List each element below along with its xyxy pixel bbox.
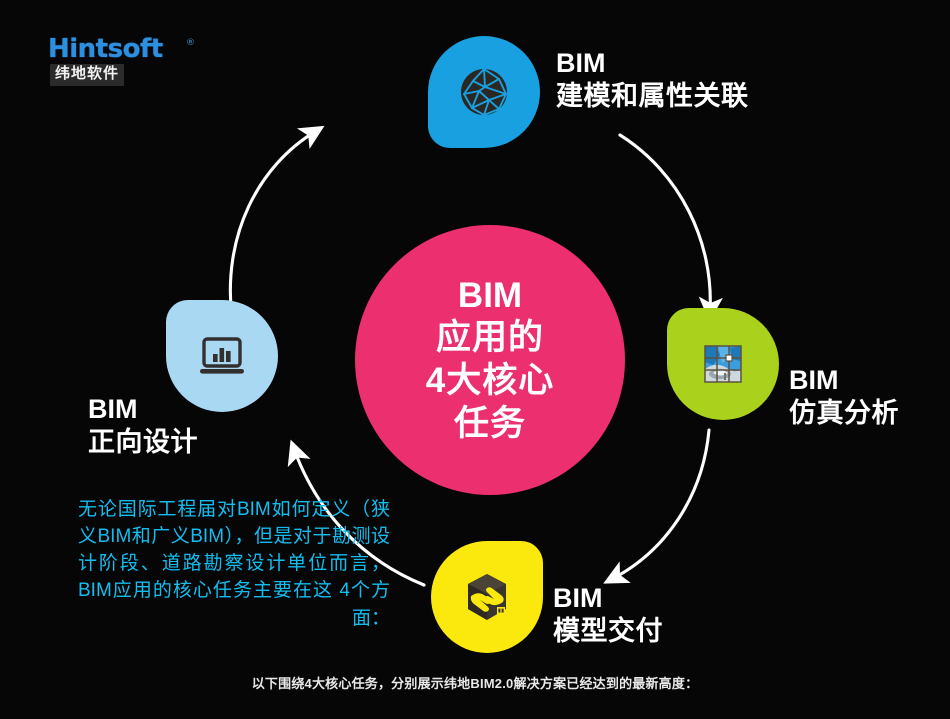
arrow-sim-to-delivery (612, 430, 709, 579)
registered-trademark-icon: ® (186, 38, 195, 48)
center-line-4: 任务 (454, 403, 526, 446)
slide-canvas: Hintsoft ® 纬地软件 BIM 应用的 4大核心 任务 (0, 0, 950, 719)
node-bim-delivery[interactable] (431, 541, 543, 653)
node-label-en: BIM (553, 582, 663, 615)
wireframe-globe-icon (455, 63, 513, 121)
center-hub: BIM 应用的 4大核心 任务 (355, 225, 625, 495)
footer-note: 以下围绕4大核心任务，分别展示纬地BIM2.0解决方案已经达到的最新高度： (0, 673, 950, 692)
laptop-bar-chart-icon (193, 327, 251, 385)
arrow-model-to-sim (620, 135, 710, 312)
node-label-cn: 模型交付 (553, 615, 663, 648)
brand-logo: Hintsoft ® 纬地软件 (48, 36, 248, 98)
brand-wordmark: Hintsoft (48, 36, 163, 62)
handshake-box-icon (458, 568, 516, 626)
node-bim-modeling[interactable] (428, 36, 540, 148)
node-label-bim-delivery: BIM 模型交付 (553, 582, 663, 648)
node-bim-simulation[interactable] (667, 308, 779, 420)
node-label-en: BIM (556, 47, 749, 80)
node-label-bim-forward-design: BIM 正向设计 (88, 393, 198, 459)
terrain-grid-photo-icon (694, 335, 752, 393)
intro-paragraph: 无论国际工程届对BIM如何定义（狭义BIM和广义BIM），但是对于勘测设计阶段、… (78, 496, 390, 632)
brand-chinese-name: 纬地软件 (50, 64, 124, 86)
center-line-1: BIM (458, 275, 522, 318)
node-label-bim-modeling: BIM 建模和属性关联 (556, 47, 749, 113)
node-label-cn: 正向设计 (88, 426, 198, 459)
node-label-en: BIM (88, 393, 198, 426)
center-line-3: 4大核心 (426, 360, 554, 403)
node-label-en: BIM (789, 364, 899, 397)
node-label-cn: 仿真分析 (789, 397, 899, 430)
arrow-design-to-model (230, 131, 316, 318)
node-label-bim-simulation: BIM 仿真分析 (789, 364, 899, 430)
node-label-cn: 建模和属性关联 (556, 80, 749, 113)
center-line-2: 应用的 (436, 317, 544, 360)
